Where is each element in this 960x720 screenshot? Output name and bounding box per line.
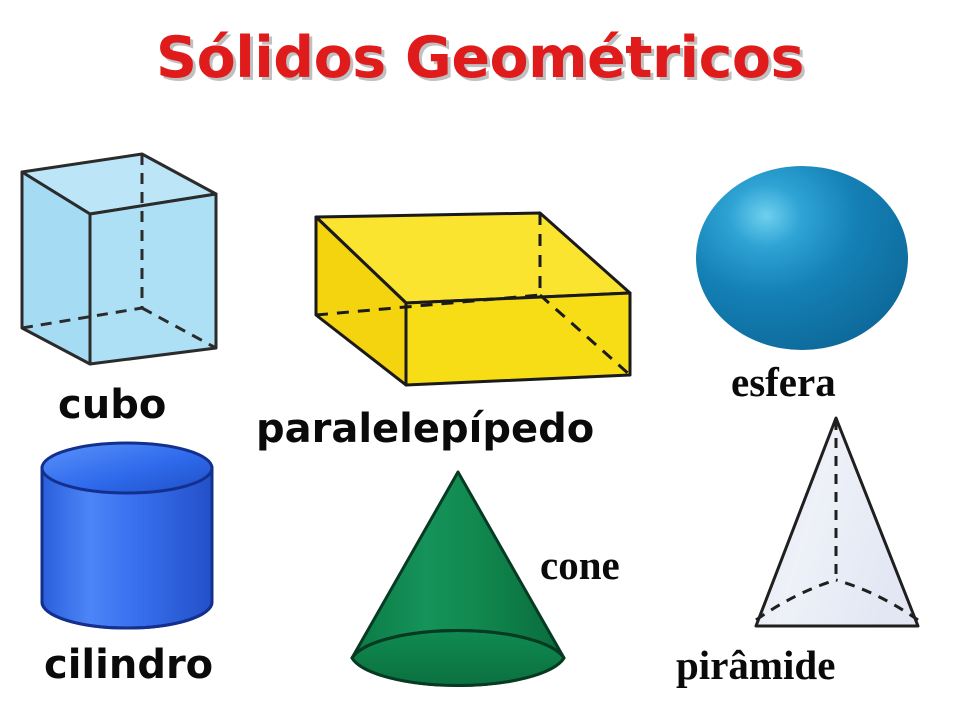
label-cube: cubo xyxy=(58,385,166,425)
label-sphere: esfera xyxy=(731,362,836,403)
label-pyramid: pirâmide xyxy=(676,645,835,686)
figure-rectangular-prism xyxy=(290,195,642,395)
page-title: Sólidos Geométricos xyxy=(0,30,960,87)
label-cone: cone xyxy=(540,545,620,586)
figure-cube xyxy=(14,152,224,374)
figure-sphere xyxy=(694,163,910,353)
geometric-solids-poster: Sólidos Geométricos cubo xyxy=(0,0,960,720)
label-rectangular-prism: paralelepípedo xyxy=(256,409,594,449)
figure-pyramid xyxy=(746,414,924,640)
label-cylinder: cilindro xyxy=(44,645,213,685)
figure-cylinder xyxy=(38,442,216,632)
